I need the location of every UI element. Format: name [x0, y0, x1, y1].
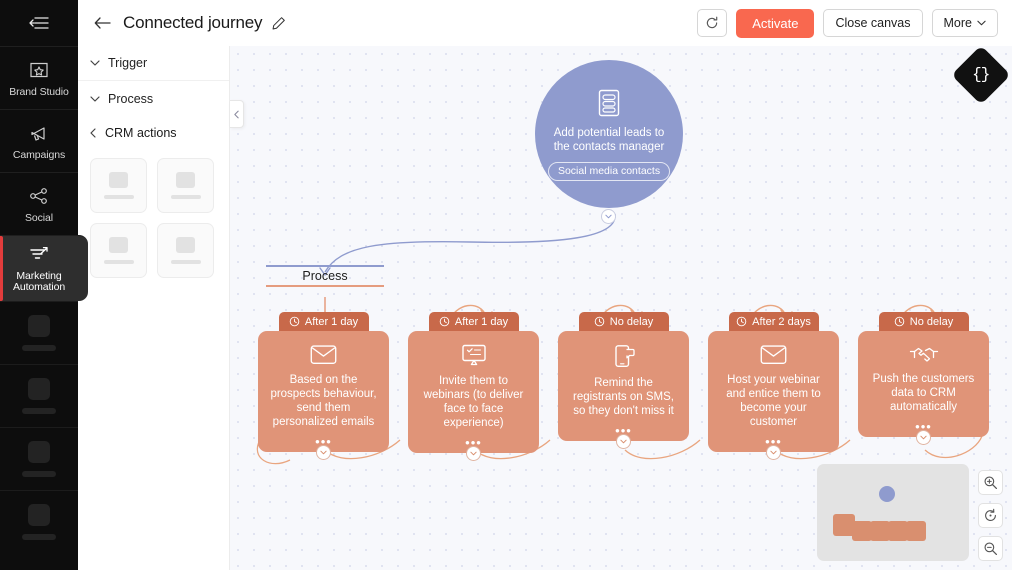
chevron-down-icon [470, 451, 477, 456]
action-card-body[interactable]: Host your webinar and entice them to bec… [708, 331, 839, 452]
sidebar-item-label: Campaigns [13, 150, 65, 162]
chevron-left-icon [234, 110, 239, 119]
more-label: More [944, 16, 972, 30]
chevron-down-icon [920, 435, 927, 440]
action-card-text: Host your webinar and entice them to bec… [717, 373, 830, 429]
action-card-text: Invite them to webinars (to deliver face… [417, 374, 530, 430]
panel-section-trigger[interactable]: Trigger [78, 46, 229, 81]
trigger-chip: Social media contacts [548, 162, 670, 181]
delay-label: No delay [910, 316, 953, 328]
header-actions: Activate Close canvas More [697, 9, 998, 38]
action-card-body[interactable]: Remind the registrants on SMS, so they d… [558, 331, 689, 441]
action-card[interactable]: After 2 days Host your webinar and entic… [708, 312, 839, 452]
webinar-monitor-icon [461, 344, 487, 366]
divider-line-bottom [266, 285, 384, 287]
card-menu-button[interactable]: ••• [615, 418, 632, 435]
card-output-handle[interactable] [916, 430, 931, 445]
funnel-arrow-icon [27, 244, 51, 266]
chevron-down-icon [90, 60, 100, 66]
sidebar-skeleton-item [0, 364, 78, 427]
chevron-left-icon [90, 128, 96, 138]
collapse-menu-icon [29, 15, 49, 31]
more-button[interactable]: More [932, 9, 998, 37]
delay-label: No delay [610, 316, 653, 328]
activate-button[interactable]: Activate [736, 9, 814, 38]
sidebar-skeleton-item [0, 301, 78, 364]
refresh-icon [705, 16, 719, 30]
action-card[interactable]: No delay Remind the registrants on SMS, … [558, 312, 689, 441]
zoom-controls [978, 470, 1003, 561]
left-nav-rail: Brand Studio Campaigns Social Marke [0, 0, 78, 570]
panel-collapse-handle[interactable] [230, 100, 244, 128]
action-card-body[interactable]: Invite them to webinars (to deliver face… [408, 331, 539, 453]
chevron-down-icon [90, 96, 100, 102]
back-button[interactable] [90, 12, 115, 34]
action-tile[interactable] [157, 223, 214, 278]
delay-badge[interactable]: No delay [579, 312, 669, 331]
zoom-in-button[interactable] [978, 470, 1003, 495]
crm-actions-label: CRM actions [105, 126, 177, 140]
sidebar-item-label: Marketing Automation [0, 271, 78, 294]
action-tile[interactable] [90, 223, 147, 278]
card-output-handle[interactable] [616, 434, 631, 449]
process-divider: Process [266, 265, 384, 287]
minimap-node [870, 521, 890, 541]
handshake-icon [909, 344, 939, 364]
action-card-text: Based on the prospects behaviour, send t… [267, 373, 380, 429]
zoom-out-icon [983, 541, 998, 556]
chevron-down-icon [620, 439, 627, 444]
zoom-out-button[interactable] [978, 536, 1003, 561]
minimap-node [888, 521, 908, 541]
megaphone-icon [27, 121, 51, 145]
minimap[interactable] [817, 464, 969, 561]
clock-icon [594, 316, 605, 327]
minimap-node [906, 521, 926, 541]
card-output-handle[interactable] [766, 445, 781, 460]
card-menu-button[interactable]: ••• [765, 429, 782, 446]
minimap-node [852, 521, 872, 541]
panel-section-label: Trigger [108, 56, 147, 70]
clock-icon [289, 316, 300, 327]
sidebar-item-label: Brand Studio [9, 87, 69, 99]
crm-action-tiles [78, 150, 229, 286]
delay-label: After 1 day [305, 316, 358, 328]
top-header: Connected journey Activate Close canvas … [78, 0, 1012, 46]
card-menu-button[interactable]: ••• [465, 430, 482, 447]
action-card-text: Remind the registrants on SMS, so they d… [567, 376, 680, 418]
action-card[interactable]: After 1 day Based on the prospects behav… [258, 312, 389, 452]
elements-panel: Trigger Process CRM actions [78, 46, 230, 570]
brand-studio-icon [27, 58, 51, 82]
card-output-handle[interactable] [466, 446, 481, 461]
share-nodes-icon [27, 184, 51, 208]
close-canvas-label: Close canvas [835, 16, 910, 30]
zoom-in-icon [983, 475, 998, 490]
sidebar-item-marketing-automation[interactable]: Marketing Automation [0, 235, 88, 301]
sidebar-item-brand-studio[interactable]: Brand Studio [0, 46, 78, 109]
sidebar-skeleton-item [0, 490, 78, 553]
card-menu-button[interactable]: ••• [915, 414, 932, 431]
sidebar-item-social[interactable]: Social [0, 172, 78, 235]
close-canvas-button[interactable]: Close canvas [823, 9, 922, 37]
action-card-text: Push the customers data to CRM automatic… [867, 372, 980, 414]
reset-zoom-icon [983, 508, 998, 523]
chevron-down-icon [605, 214, 612, 219]
clock-icon [439, 316, 450, 327]
action-card-body[interactable]: Based on the prospects behaviour, send t… [258, 331, 389, 452]
action-card[interactable]: No delay Push the customers data to CRM … [858, 312, 989, 437]
sidebar-item-campaigns[interactable]: Campaigns [0, 109, 78, 172]
minimap-trigger-dot [879, 486, 895, 502]
action-tile[interactable] [90, 158, 147, 213]
page-title: Connected journey [123, 13, 262, 33]
envelope-icon [310, 344, 337, 365]
delay-label: After 2 days [752, 316, 811, 328]
delay-badge[interactable]: After 1 day [279, 312, 369, 331]
envelope-icon [760, 344, 787, 365]
panel-section-process[interactable]: Process [78, 81, 229, 116]
delay-label: After 1 day [455, 316, 508, 328]
chevron-down-icon [977, 20, 986, 26]
collapse-menu-button[interactable] [0, 0, 78, 46]
delay-badge[interactable]: After 1 day [429, 312, 519, 331]
pencil-icon [271, 16, 286, 31]
delay-badge[interactable]: After 2 days [729, 312, 819, 331]
activate-label: Activate [752, 16, 798, 31]
contacts-list-icon [595, 88, 623, 118]
refresh-button[interactable] [697, 9, 727, 37]
action-tile[interactable] [157, 158, 214, 213]
sms-phone-icon [612, 344, 636, 368]
reset-zoom-button[interactable] [978, 503, 1003, 528]
card-output-handle[interactable] [316, 445, 331, 460]
edit-title-button[interactable] [271, 16, 286, 31]
sidebar-item-label: Social [25, 213, 53, 225]
trigger-node[interactable]: Add potential leads to the contacts mana… [535, 60, 683, 208]
panel-subsection-crm-actions[interactable]: CRM actions [78, 116, 229, 150]
logo-text: {} [972, 66, 989, 84]
card-menu-button[interactable]: ••• [315, 429, 332, 446]
clock-icon [894, 316, 905, 327]
delay-badge[interactable]: No delay [879, 312, 969, 331]
back-arrow-icon [94, 16, 111, 30]
trigger-output-handle[interactable] [601, 209, 616, 224]
app-root: Brand Studio Campaigns Social Marke [0, 0, 1012, 570]
process-divider-label: Process [302, 267, 347, 285]
action-card-body[interactable]: Push the customers data to CRM automatic… [858, 331, 989, 437]
chevron-down-icon [770, 450, 777, 455]
panel-section-label: Process [108, 92, 153, 106]
journey-canvas[interactable]: {} Add potential leads to the contacts m… [230, 46, 1012, 570]
chevron-down-icon [320, 450, 327, 455]
action-card[interactable]: After 1 day Invite them to webinars (to … [408, 312, 539, 453]
sidebar-skeleton-item [0, 427, 78, 490]
trigger-text: Add potential leads to the contacts mana… [549, 126, 669, 154]
clock-icon [736, 316, 747, 327]
